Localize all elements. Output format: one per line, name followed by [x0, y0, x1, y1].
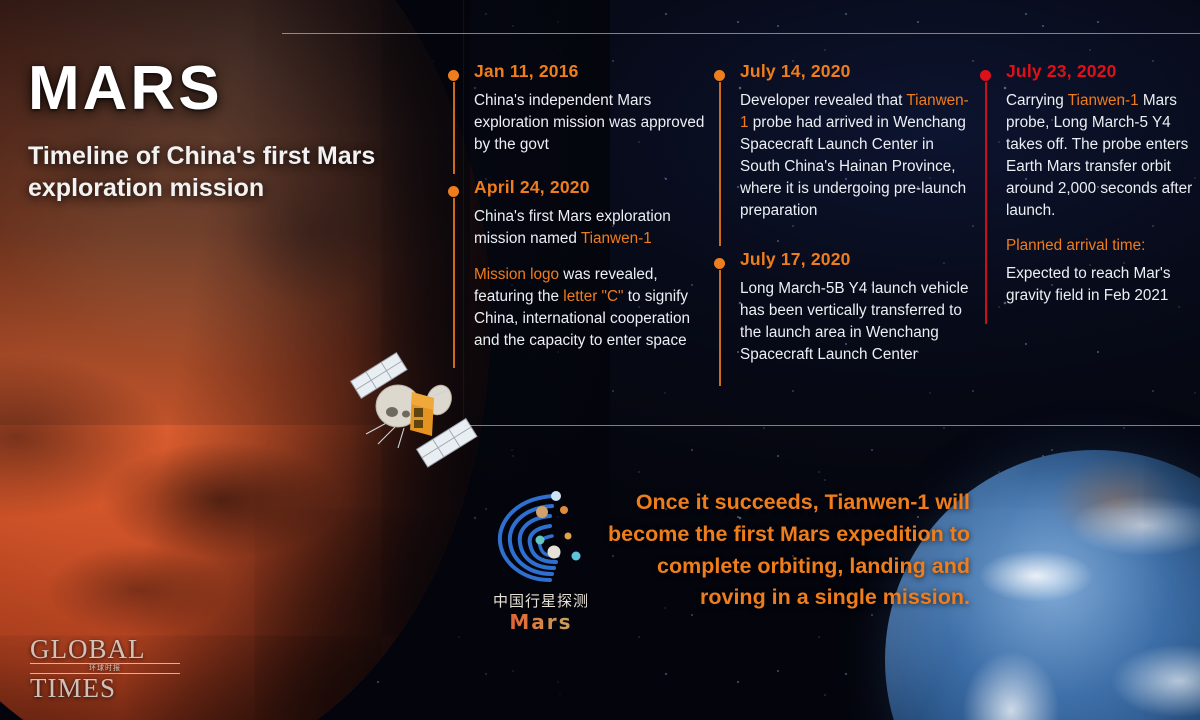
timeline: Jan 11, 2016 China's independent Mars ex…	[448, 62, 1200, 412]
page-title: MARS	[28, 58, 428, 120]
text-segment-highlight: Tianwen-1	[581, 230, 652, 247]
divider-top	[282, 33, 1200, 34]
cnsa-planetary-exploration-logo: 中国行星探测 Mars	[480, 486, 602, 636]
planet-dot-icon	[536, 506, 548, 518]
timeline-bullet-icon	[448, 186, 459, 197]
page-subtitle: Timeline of China's first Mars explorati…	[28, 140, 428, 204]
planet-dot-icon	[548, 546, 561, 559]
timeline-connector-line	[719, 82, 721, 246]
divider-middle	[464, 425, 1200, 426]
text-segment-highlight: letter "C"	[563, 288, 623, 305]
timeline-connector-line	[453, 82, 455, 174]
logo-latin-text: Mars	[480, 610, 602, 634]
timeline-entry[interactable]: Jan 11, 2016 China's independent Mars ex…	[448, 62, 710, 178]
timeline-date: July 23, 2020	[1006, 62, 1200, 81]
timeline-text: Mission logo was revealed, featuring the…	[474, 264, 710, 351]
title-block: MARS Timeline of China's first Mars expl…	[28, 58, 428, 204]
timeline-date: July 17, 2020	[740, 250, 976, 269]
planet-dot-icon	[565, 533, 572, 540]
planet-dot-icon	[551, 491, 561, 501]
text-segment-highlight: Tianwen-1	[1068, 92, 1139, 109]
timeline-entry[interactable]: July 14, 2020 Developer revealed that Ti…	[714, 62, 976, 250]
text-segment: Mars probe, Long March-5 Y4 takes off. T…	[1006, 92, 1192, 218]
timeline-column-2: July 14, 2020 Developer revealed that Ti…	[714, 62, 976, 366]
text-segment: Long March-5B Y4 launch vehicle has been…	[740, 280, 968, 363]
conclusion-banner: Once it succeeds, Tianwen-1 will become …	[595, 487, 970, 614]
timeline-entry[interactable]: April 24, 2020 China's first Mars explor…	[448, 178, 710, 351]
timeline-connector-line	[453, 198, 455, 368]
orbit-swirl-icon	[480, 486, 602, 590]
text-segment: China's independent Mars exploration mis…	[474, 92, 704, 153]
text-segment: Carrying	[1006, 92, 1068, 109]
timeline-lead-in-text: Expected to reach Mar's gravity field in…	[1006, 263, 1200, 307]
global-times-watermark: GLOBAL 环球时报 TIMES	[30, 636, 180, 702]
timeline-date: April 24, 2020	[474, 178, 710, 197]
timeline-column-1: Jan 11, 2016 China's independent Mars ex…	[448, 62, 710, 351]
watermark-line-1: GLOBAL	[30, 636, 180, 662]
watermark-line-2: TIMES	[30, 675, 180, 702]
timeline-lead-in: Planned arrival time:	[1006, 235, 1200, 257]
timeline-bullet-icon	[448, 70, 459, 81]
timeline-text: Long March-5B Y4 launch vehicle has been…	[740, 278, 976, 365]
timeline-bullet-icon	[714, 258, 725, 269]
timeline-date: Jan 11, 2016	[474, 62, 710, 81]
timeline-date: July 14, 2020	[740, 62, 976, 81]
timeline-entry[interactable]: July 23, 2020 Carrying Tianwen-1 Mars pr…	[980, 62, 1200, 307]
timeline-text: China's independent Mars exploration mis…	[474, 90, 710, 156]
infographic-poster: MARS Timeline of China's first Mars expl…	[0, 0, 1200, 720]
timeline-bullet-icon	[980, 70, 991, 81]
text-segment-highlight: Mission logo	[474, 266, 559, 283]
logo-chinese-text: 中国行星探测	[480, 590, 602, 611]
timeline-bullet-icon	[714, 70, 725, 81]
timeline-connector-line	[719, 270, 721, 386]
timeline-text: Developer revealed that Tianwen-1 probe …	[740, 90, 976, 221]
text-segment: probe had arrived in Wenchang Spacecraft…	[740, 114, 966, 218]
timeline-text: Carrying Tianwen-1 Mars probe, Long Marc…	[1006, 90, 1200, 221]
timeline-column-3: July 23, 2020 Carrying Tianwen-1 Mars pr…	[980, 62, 1200, 307]
planet-dot-icon	[572, 552, 581, 561]
timeline-entry[interactable]: July 17, 2020 Long March-5B Y4 launch ve…	[714, 250, 976, 366]
planet-dot-icon	[536, 536, 545, 545]
text-segment: Developer revealed that	[740, 92, 906, 109]
timeline-connector-line	[985, 82, 987, 324]
planet-dot-icon	[560, 506, 568, 514]
timeline-text: China's first Mars exploration mission n…	[474, 206, 710, 250]
